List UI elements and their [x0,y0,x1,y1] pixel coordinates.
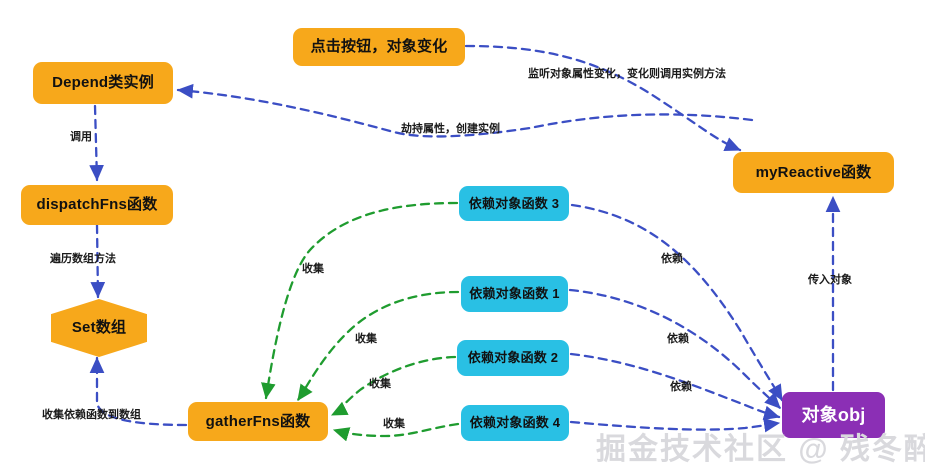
edge-label-traverse-array-method: 遍历数组方法 [50,250,116,266]
node-dep-fn-2[interactable]: 依赖对象函数 2 [457,340,569,376]
node-depend-class-instance[interactable]: Depend类实例 [33,62,173,104]
node-dispatchfns[interactable]: dispatchFns函数 [21,185,173,225]
node-obj[interactable]: 对象obj [782,392,885,438]
node-set-array-label: Set数组 [72,320,126,336]
node-myreactive[interactable]: myReactive函数 [733,152,894,193]
edge-label-collect-deps-to-array: 收集依赖函数到数组 [42,406,141,422]
node-dep-fn-1[interactable]: 依赖对象函数 1 [461,276,568,312]
edge-label-pass-object: 传入对象 [808,271,852,287]
edge-label-watch-property-change: 监听对象属性变化，变化则调用实例方法 [528,65,726,81]
edge-label-gather-3: 收集 [369,375,391,391]
node-dep-fn-4[interactable]: 依赖对象函数 4 [461,405,569,441]
edge-label-dependency-2: 依赖 [667,330,689,346]
edge-label-hijack-create-instance: 劫持属性，创建实例 [401,120,500,136]
edge-depfn2-to-gatherfns [332,357,455,415]
edge-depfn4-to-objobj [571,422,779,430]
node-gatherfns[interactable]: gatherFns函数 [188,402,328,441]
diagram-canvas: 点击按钮，对象变化 Depend类实例 dispatchFns函数 Set数组 … [0,0,925,464]
edge-label-dependency-1: 依赖 [661,250,683,266]
edge-label-call: 调用 [70,128,92,144]
edge-depfn3-to-myreactive [572,205,782,400]
node-set-array[interactable]: Set数组 [51,299,147,357]
node-click-button[interactable]: 点击按钮，对象变化 [293,28,465,66]
edge-depfn3-to-gatherfns [266,203,457,398]
edge-label-gather-1: 收集 [302,260,324,276]
edge-click-to-myreactive [466,46,740,150]
edge-label-gather-4: 收集 [383,415,405,431]
edge-label-dependency-3: 依赖 [670,378,692,394]
edge-depend-to-dispatchfns [95,106,97,180]
edge-label-gather-2: 收集 [355,330,377,346]
node-dep-fn-3[interactable]: 依赖对象函数 3 [459,186,569,221]
